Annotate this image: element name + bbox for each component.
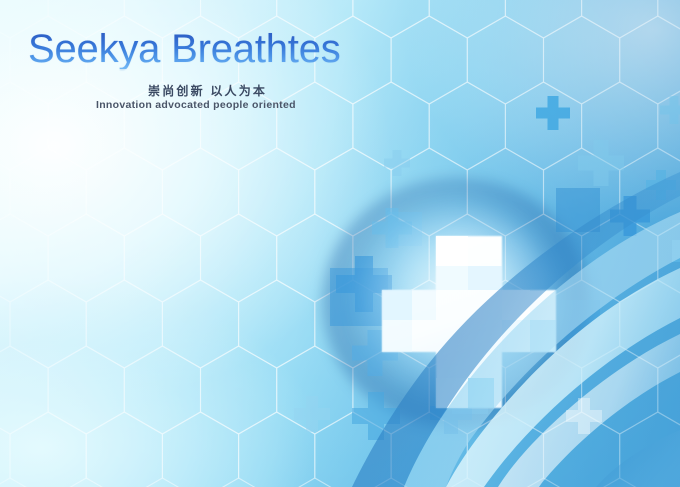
vignette-overlay (0, 0, 680, 487)
tagline-english: Innovation advocated people oriented (96, 99, 296, 111)
page-title: Seekya Breathtes (28, 29, 341, 69)
poster-canvas: Seekya Breathtes Seekya Breathtes 崇尚创新 以… (0, 0, 680, 487)
tagline-chinese: 崇尚创新 以人为本 (148, 82, 267, 99)
